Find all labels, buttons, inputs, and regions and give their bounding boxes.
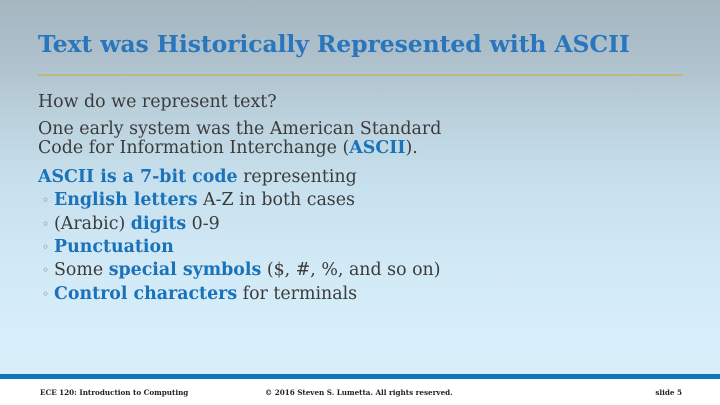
bullet-suffix: 0-9 bbox=[186, 214, 220, 234]
list-item: ◦English letters A-Z in both cases bbox=[38, 190, 658, 211]
bullet-circle-icon: ◦ bbox=[42, 260, 49, 280]
lead-rest: representing bbox=[238, 167, 357, 187]
bullet-circle-icon: ◦ bbox=[42, 284, 49, 304]
body-question: How do we represent text? bbox=[38, 93, 658, 113]
body-question-text: How do we represent text? bbox=[38, 92, 277, 112]
bullet-circle-icon: ◦ bbox=[42, 190, 49, 210]
body-intro-paragraph: One early system was the American Standa… bbox=[38, 120, 658, 159]
bullet-highlight: digits bbox=[131, 214, 186, 234]
slide-canvas: Text was Historically Represented with A… bbox=[0, 0, 720, 405]
bullet-suffix: for terminals bbox=[237, 284, 357, 304]
body-lead-line: ASCII is a 7-bit code representing bbox=[38, 168, 658, 187]
intro-line-1: One early system was the American Standa… bbox=[38, 119, 441, 139]
lead-highlight: ASCII is a 7-bit code bbox=[38, 167, 238, 187]
footer: ECE 120: Introduction to Computing © 201… bbox=[0, 379, 720, 405]
bullet-circle-icon: ◦ bbox=[42, 214, 49, 234]
bullet-highlight: Punctuation bbox=[54, 237, 174, 257]
bullet-prefix: (Arabic) bbox=[54, 214, 131, 234]
list-item: ◦Control characters for terminals bbox=[38, 284, 658, 305]
bullet-circle-icon: ◦ bbox=[42, 237, 49, 257]
bullet-suffix: ($, #, %, and so on) bbox=[261, 260, 440, 280]
bullet-highlight: Control characters bbox=[54, 284, 237, 304]
list-item: ◦Some special symbols ($, #, %, and so o… bbox=[38, 260, 658, 281]
footer-copyright-label: © 2016 Steven S. Lumetta. All rights res… bbox=[265, 388, 453, 397]
list-item: ◦(Arabic) digits 0-9 bbox=[38, 214, 658, 235]
intro-line-2-prefix: Code for Information Interchange ( bbox=[38, 138, 349, 158]
intro-line-2-suffix: ). bbox=[405, 138, 417, 158]
bullet-highlight: special symbols bbox=[109, 260, 262, 280]
footer-slide-number: slide 5 bbox=[655, 388, 682, 397]
intro-ascii-highlight: ASCII bbox=[349, 138, 405, 158]
title-underline-rule bbox=[38, 74, 683, 76]
page-title: Text was Historically Represented with A… bbox=[38, 32, 684, 58]
list-item: ◦Punctuation bbox=[38, 237, 658, 258]
slide-body: How do we represent text? One early syst… bbox=[38, 93, 658, 307]
bullet-prefix: Some bbox=[54, 260, 109, 280]
title-area: Text was Historically Represented with A… bbox=[38, 32, 684, 58]
footer-course-label: ECE 120: Introduction to Computing bbox=[40, 388, 188, 397]
ascii-feature-list: ◦English letters A-Z in both cases ◦(Ara… bbox=[38, 190, 658, 304]
bullet-suffix: A-Z in both cases bbox=[198, 190, 355, 210]
bullet-highlight: English letters bbox=[54, 190, 198, 210]
